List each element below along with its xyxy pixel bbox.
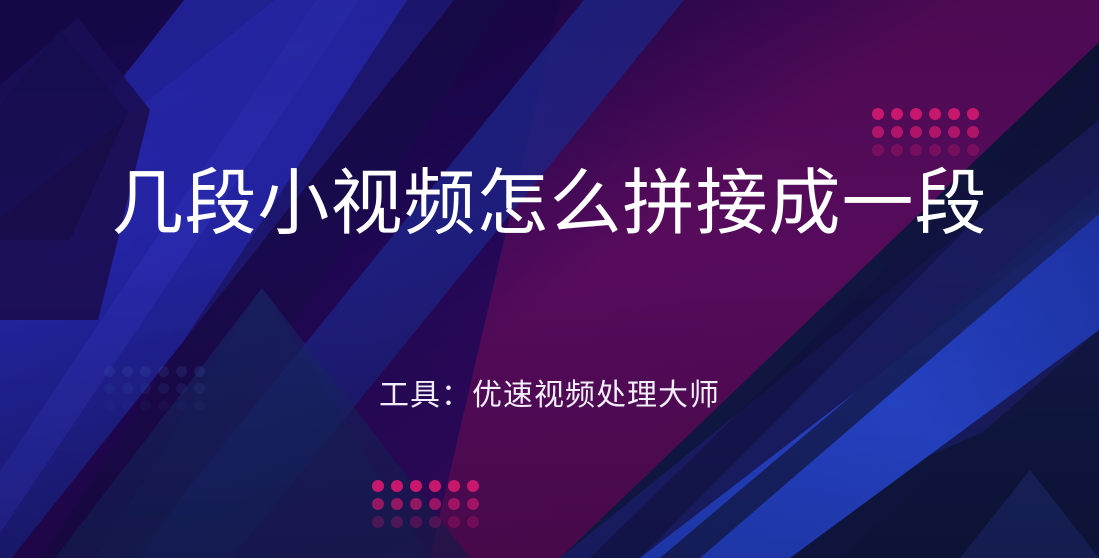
decorative-dot <box>429 480 441 492</box>
decorative-dot <box>467 516 479 528</box>
decorative-dot <box>929 108 941 120</box>
decorative-dot <box>429 516 441 528</box>
decorative-dot <box>872 126 884 138</box>
decorative-dot <box>910 144 922 156</box>
dot-grid-bottom-center <box>372 480 479 528</box>
slide-title: 几段小视频怎么拼接成一段 <box>0 158 1099 250</box>
decorative-dot <box>448 498 460 510</box>
decorative-dot <box>929 126 941 138</box>
decorative-dot <box>872 108 884 120</box>
decorative-dot <box>929 144 941 156</box>
decorative-dot <box>891 126 903 138</box>
decorative-dot <box>410 480 422 492</box>
decorative-dot <box>948 108 960 120</box>
decorative-dot <box>448 516 460 528</box>
decorative-dot <box>967 108 979 120</box>
decorative-dot <box>910 108 922 120</box>
decorative-dot <box>467 498 479 510</box>
decorative-dot <box>410 498 422 510</box>
decorative-dot <box>948 144 960 156</box>
decorative-dot <box>891 108 903 120</box>
decorative-dot <box>910 126 922 138</box>
background-artwork <box>0 0 1099 558</box>
decorative-dot <box>967 126 979 138</box>
decorative-dot <box>948 126 960 138</box>
dot-grid-top-right <box>872 108 979 156</box>
decorative-dot <box>891 144 903 156</box>
decorative-dot <box>967 144 979 156</box>
decorative-dot <box>467 480 479 492</box>
decorative-dot <box>410 516 422 528</box>
slide-subtitle: 工具：优速视频处理大师 <box>0 376 1099 416</box>
decorative-dot <box>872 144 884 156</box>
decorative-dot <box>429 498 441 510</box>
decorative-dot <box>391 498 403 510</box>
decorative-dot <box>372 480 384 492</box>
decorative-dot <box>448 480 460 492</box>
decorative-dot <box>372 516 384 528</box>
slide-canvas: 几段小视频怎么拼接成一段 工具：优速视频处理大师 <box>0 0 1099 558</box>
decorative-dot <box>391 516 403 528</box>
decorative-dot <box>372 498 384 510</box>
decorative-dot <box>391 480 403 492</box>
